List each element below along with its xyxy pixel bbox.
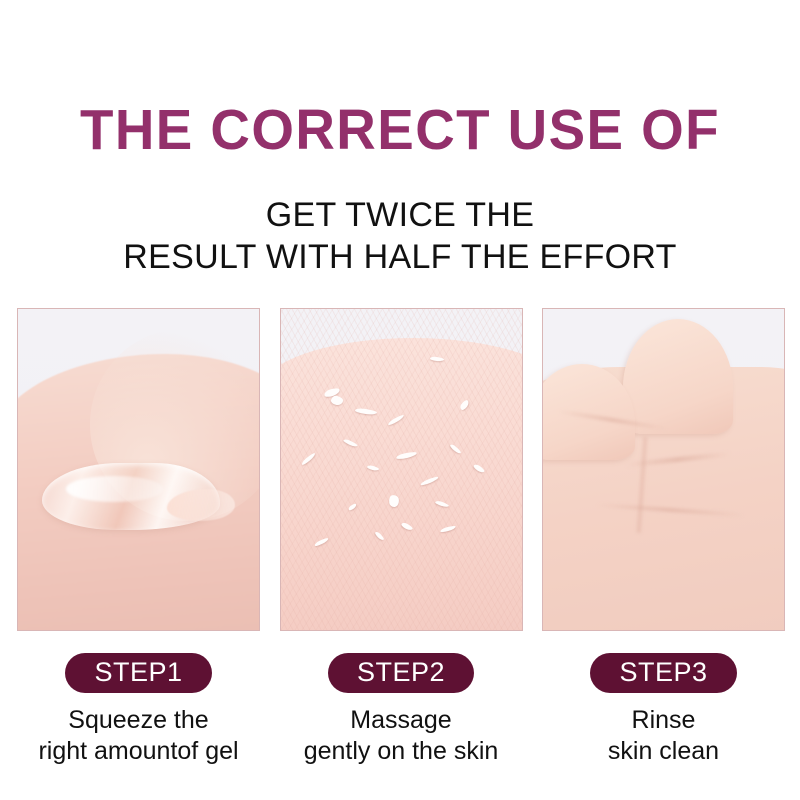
- step-caption-2: Massage gently on the skin: [304, 705, 499, 767]
- steps-row: STEP1 Squeeze the right amountof gel: [16, 308, 786, 767]
- step-caption-1-line-1: Squeeze the: [38, 705, 238, 736]
- step-badge-3: STEP3: [590, 653, 736, 693]
- gel-highlight: [66, 476, 162, 502]
- step-2-photo: [280, 308, 523, 631]
- step-3-photo: [542, 308, 785, 631]
- step-caption-3-line-2: skin clean: [608, 736, 719, 767]
- infographic-page: THE CORRECT USE OF GET TWICE THE RESULT …: [0, 0, 800, 800]
- step-card-2: STEP2 Massage gently on the skin: [279, 308, 524, 767]
- step-caption-1-line-2: right amountof gel: [38, 736, 238, 767]
- step-badge-2: STEP2: [328, 653, 474, 693]
- step-caption-2-line-1: Massage: [304, 705, 499, 736]
- page-subtitle: GET TWICE THE RESULT WITH HALF THE EFFOR…: [0, 194, 800, 278]
- step-caption-3: Rinse skin clean: [608, 705, 719, 767]
- step-card-1: STEP1 Squeeze the right amountof gel: [16, 308, 261, 767]
- page-subtitle-line-1: GET TWICE THE: [0, 194, 800, 236]
- skin-texture: [281, 309, 522, 630]
- step-badge-1: STEP1: [65, 653, 211, 693]
- step-caption-3-line-1: Rinse: [608, 705, 719, 736]
- step-caption-2-line-2: gently on the skin: [304, 736, 499, 767]
- page-title: THE CORRECT USE OF: [16, 98, 784, 162]
- page-subtitle-line-2: RESULT WITH HALF THE EFFORT: [0, 236, 800, 278]
- step-1-photo: [17, 308, 260, 631]
- step-caption-1: Squeeze the right amountof gel: [38, 705, 238, 767]
- step-card-3: STEP3 Rinse skin clean: [541, 308, 786, 767]
